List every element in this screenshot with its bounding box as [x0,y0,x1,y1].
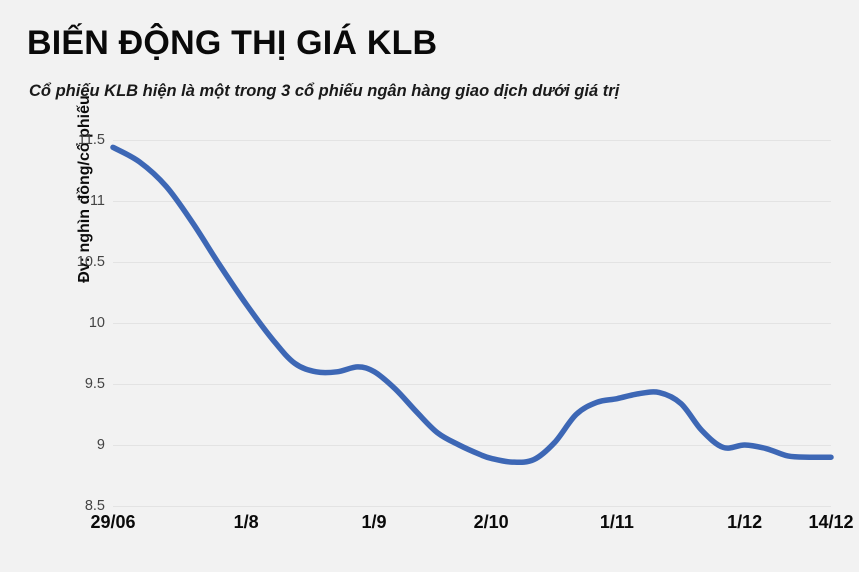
chart-page: BIẾN ĐỘNG THỊ GIÁ KLB Cổ phiếu KLB hiện … [0,0,859,572]
plot-area [113,140,831,506]
x-axis-tick-label: 29/06 [90,512,135,533]
series-path-klb [113,147,831,462]
x-axis-tick-label: 1/9 [361,512,386,533]
gridline [113,506,831,507]
series-line-klb [113,140,831,506]
x-axis-tick-label: 2/10 [474,512,509,533]
x-axis-tick-labels: 29/061/81/92/101/111/1214/12 [0,512,859,542]
x-axis-tick-label: 14/12 [808,512,853,533]
y-axis-tick-label: 10.5 [13,254,113,270]
y-axis-tick-labels: 11.51110.5109.598.5 [5,140,113,506]
y-axis-tick-label: 11 [13,193,113,209]
x-axis-tick-label: 1/12 [727,512,762,533]
y-axis-tick-label: 9 [13,437,113,453]
page-subtitle: Cổ phiếu KLB hiện là một trong 3 cổ phiế… [29,82,619,101]
x-axis-tick-label: 1/11 [600,512,634,533]
y-axis-tick-label: 9.5 [13,376,113,392]
x-axis-tick-label: 1/8 [234,512,259,533]
y-axis-tick-label: 10 [13,315,113,331]
y-axis-tick-label: 11.5 [13,132,113,148]
